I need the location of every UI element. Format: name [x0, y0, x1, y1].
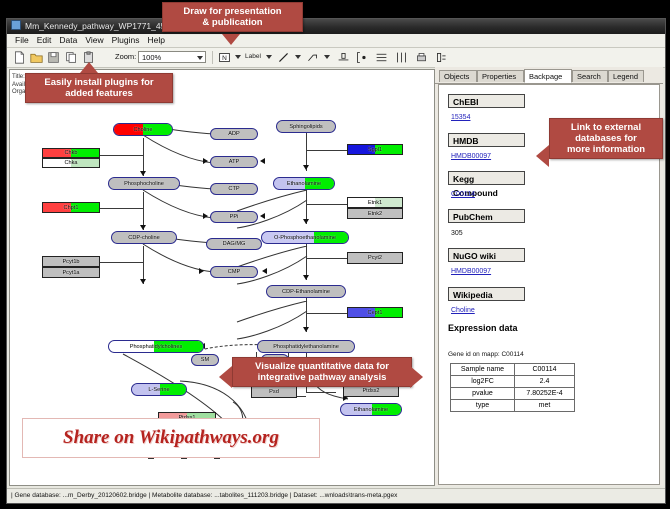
- node-label: CDP-choline: [128, 235, 159, 241]
- node-label: CMP: [228, 269, 240, 275]
- tab-properties[interactable]: Properties: [477, 70, 524, 82]
- share-banner-text: Share on Wikipathways.org: [63, 427, 279, 449]
- node-label: DAG/MG: [223, 241, 246, 247]
- zoom-label: Zoom:: [115, 52, 136, 61]
- connector-chpt1: [100, 208, 144, 209]
- arrow-left-ppi: [260, 213, 265, 219]
- expression-data-table: Sample name C00114 log2FC 2.4 pvalue 7.8…: [450, 363, 575, 412]
- node-label: Ethanolamine: [287, 181, 321, 187]
- db-header-chebi: ChEBI: [448, 94, 525, 108]
- db-header-nugo-wiki: NuGO wiki: [448, 248, 525, 262]
- callout-draw-line2: & publication: [202, 17, 262, 28]
- bracket-icon[interactable]: [355, 51, 368, 64]
- db-link-chebi[interactable]: 15354: [451, 114, 470, 121]
- table-cell-value: 2.4: [515, 376, 575, 388]
- stack-icon[interactable]: [375, 51, 388, 64]
- node-label: Pcyt2: [368, 255, 382, 261]
- node-sgpl1[interactable]: Sgpl1: [347, 144, 403, 155]
- node-sm-left[interactable]: SM: [191, 354, 219, 366]
- db-link-hmdb[interactable]: HMDB00097: [451, 153, 491, 160]
- callout-draw: Draw for presentation & publication: [162, 2, 303, 32]
- node-label: Cept1: [368, 310, 383, 316]
- line-icon[interactable]: [277, 51, 290, 64]
- menu-item-file[interactable]: File: [11, 34, 33, 47]
- db-link-wikipedia[interactable]: Choline: [451, 307, 475, 314]
- datanode-icon[interactable]: N: [218, 51, 231, 64]
- node-chpt1[interactable]: Chpt1: [42, 202, 100, 213]
- expression-data-header: Expression data: [448, 323, 518, 333]
- node-label: Sphingolipids: [289, 124, 322, 130]
- db-link-nugo-wiki[interactable]: HMDB00097: [451, 268, 491, 275]
- node-label: ATP: [229, 159, 239, 165]
- table-cell-value: met: [515, 400, 575, 412]
- callout-draw-line1: Draw for presentation: [183, 6, 281, 17]
- callout-plugins: Easily install plugins for added feature…: [25, 73, 173, 103]
- node-label: Ethanolamine: [354, 407, 388, 413]
- callout-plugins-line1: Easily install plugins for: [44, 77, 153, 88]
- node-label: CTP: [228, 186, 239, 192]
- share-banner: Share on Wikipathways.org: [22, 418, 320, 458]
- table-cell-value: C00114: [515, 364, 575, 376]
- node-chkb[interactable]: Chkb: [42, 148, 100, 158]
- align-icon[interactable]: [337, 51, 350, 64]
- status-bar-text: | Gene database: ...m_Derby_20120602.bri…: [11, 492, 397, 499]
- table-row: pvalue 7.80252E-4: [451, 388, 575, 400]
- node-l-serine-left[interactable]: L-Serine: [131, 383, 187, 396]
- table-row: type met: [451, 400, 575, 412]
- callout-plugins-line2: added features: [65, 88, 133, 99]
- db-header-kegg-compound: Kegg Compound: [448, 171, 525, 185]
- db-header-wikipedia: Wikipedia: [448, 287, 525, 301]
- connector-pcyt2: [306, 258, 348, 259]
- legend-icon[interactable]: [435, 51, 448, 64]
- node-sphingolipids[interactable]: Sphingolipids: [276, 120, 336, 133]
- connector-etnk: [306, 204, 348, 205]
- print-icon[interactable]: [415, 51, 428, 64]
- table-cell-key: Sample name: [451, 364, 515, 376]
- node-dagmg[interactable]: DAG/MG: [206, 238, 262, 250]
- db-header-pubchem: PubChem: [448, 209, 525, 223]
- node-ctp[interactable]: CTP: [210, 183, 258, 195]
- datanode-chevron-down-icon[interactable]: [235, 55, 241, 59]
- interaction-chevron-down-icon[interactable]: [324, 55, 330, 59]
- node-cdp-ethanolamine[interactable]: CDP-Ethanolamine: [266, 285, 346, 298]
- table-cell-key: log2FC: [451, 376, 515, 388]
- node-label: Sgpl1: [368, 147, 382, 153]
- arrow-left-atp: [260, 158, 265, 164]
- menu-item-view[interactable]: View: [81, 34, 107, 47]
- arrow-right-ppi: [203, 213, 208, 219]
- node-phosphatidylcholines[interactable]: Phosphatidylcholines: [108, 340, 204, 353]
- callout-links-pointer: [536, 145, 549, 167]
- callout-links-line3: more information: [567, 144, 645, 155]
- open-folder-icon[interactable]: [30, 51, 43, 64]
- arrow-right-cmp: [199, 268, 204, 274]
- tab-backpage[interactable]: Backpage: [524, 69, 572, 83]
- svg-text:N: N: [222, 55, 227, 62]
- table-cell-key: pvalue: [451, 388, 515, 400]
- title-bar: Mm_Kennedy_pathway_WP1771_45176.gpml: [7, 19, 665, 34]
- pathway-canvas[interactable]: Title: Availa Organi: [9, 69, 435, 486]
- node-chka[interactable]: Chka: [42, 158, 100, 168]
- node-label: Psd: [269, 389, 279, 395]
- node-label: PPi: [230, 214, 239, 220]
- node-phosphatidylethanolamine[interactable]: Phosphatidylethanolamine: [257, 340, 355, 353]
- node-label: ADP: [228, 131, 240, 137]
- node-label: Chpt1: [64, 205, 79, 211]
- callout-draw-pointer: [222, 34, 240, 45]
- side-panel-tabs: Objects Properties Backpage Search Legen…: [435, 69, 663, 84]
- node-ethanolamine-top[interactable]: Ethanolamine: [273, 177, 335, 190]
- db-header-hmdb: HMDB: [448, 133, 525, 147]
- menu-item-plugins[interactable]: Plugins: [108, 34, 144, 47]
- callout-links-line1: Link to external: [571, 122, 641, 133]
- menu-bar: FileEditDataViewPluginsHelp: [7, 34, 665, 48]
- node-label: CDP-Ethanolamine: [282, 289, 330, 295]
- db-link-kegg-compound[interactable]: C00114: [451, 191, 475, 198]
- menu-item-data[interactable]: Data: [55, 34, 81, 47]
- node-label: Pcyt1a: [62, 270, 79, 276]
- connector-pcyt1: [100, 262, 144, 263]
- callout-visualize-line2: integrative pathway analysis: [258, 372, 387, 383]
- callout-links-line2: databases for: [575, 133, 637, 144]
- toolbar-separator: [212, 51, 213, 64]
- node-pcyt1b[interactable]: Pcyt1b: [42, 256, 100, 267]
- new-file-icon[interactable]: [13, 51, 26, 64]
- arrow-down-ethanolamine: [303, 165, 309, 170]
- node-label: Choline: [134, 127, 153, 133]
- node-label: Etnk1: [368, 200, 382, 206]
- callout-visualize-pointer-right: [410, 366, 423, 388]
- node-label: Phosphatidylethanolamine: [273, 344, 339, 350]
- tab-objects[interactable]: Objects: [439, 70, 477, 82]
- node-label: O-Phosphoethanolamine: [274, 235, 336, 241]
- node-phosphocholine[interactable]: Phosphocholine: [108, 177, 180, 190]
- node-ppi[interactable]: PPi: [210, 211, 258, 223]
- db-value-pubchem: 305: [451, 230, 463, 237]
- status-bar: | Gene database: ...m_Derby_20120602.bri…: [7, 488, 665, 503]
- label-tool-label[interactable]: Label: [245, 53, 261, 60]
- tab-legend[interactable]: Legend: [608, 70, 644, 82]
- node-psd[interactable]: Psd: [251, 386, 297, 398]
- tab-search[interactable]: Search: [572, 70, 608, 82]
- toolbar: Zoom: 100% N Label: [7, 48, 665, 68]
- node-etnk2[interactable]: Etnk2: [347, 208, 403, 219]
- node-atp[interactable]: ATP: [210, 156, 258, 168]
- node-label: Etnk2: [368, 211, 382, 217]
- node-ethanolamine-bottom[interactable]: Ethanolamine: [340, 403, 402, 416]
- chevron-down-icon: [197, 56, 203, 60]
- table-cell-key: type: [451, 400, 515, 412]
- callout-visualize: Visualize quantitative data for integrat…: [232, 357, 412, 387]
- app-icon: [11, 20, 21, 30]
- connector-cept1: [306, 313, 348, 314]
- callout-links: Link to external databases for more info…: [549, 118, 663, 159]
- node-label: Pcyt1b: [62, 259, 79, 265]
- node-cdp-choline[interactable]: CDP-choline: [111, 231, 177, 244]
- node-label: Chka: [64, 160, 77, 166]
- node-label: Chkb: [64, 150, 77, 156]
- node-etnk1[interactable]: Etnk1: [347, 197, 403, 208]
- connector-psd-h: [306, 392, 336, 393]
- table-row: log2FC 2.4: [451, 376, 575, 388]
- callout-visualize-line1: Visualize quantitative data for: [255, 361, 389, 372]
- node-label: Phosphocholine: [124, 181, 164, 187]
- node-adp[interactable]: ADP: [210, 128, 258, 140]
- node-label: SM: [201, 357, 209, 363]
- node-o-phosphoethanolamine[interactable]: O-Phosphoethanolamine: [261, 231, 349, 244]
- distribute-icon[interactable]: [395, 51, 408, 64]
- zoom-value: 100%: [142, 53, 161, 62]
- line-chevron-down-icon[interactable]: [295, 55, 301, 59]
- save-icon[interactable]: [47, 51, 60, 64]
- node-cmp[interactable]: CMP: [210, 266, 258, 278]
- arrow-right-atp: [203, 158, 208, 164]
- screenshot-root: Mm_Kennedy_pathway_WP1771_45176.gpml Fil…: [0, 0, 670, 509]
- callout-plugins-pointer: [80, 62, 98, 73]
- zoom-combobox[interactable]: 100%: [138, 51, 206, 63]
- node-label: Phosphatidylcholines: [130, 344, 183, 350]
- menu-item-edit[interactable]: Edit: [33, 34, 56, 47]
- interaction-icon[interactable]: [306, 51, 319, 64]
- arrow-left-cmp: [262, 268, 267, 274]
- node-pcyt1a[interactable]: Pcyt1a: [42, 267, 100, 278]
- callout-visualize-pointer-left: [219, 366, 232, 388]
- menu-item-help[interactable]: Help: [144, 34, 169, 47]
- table-row: Sample name C00114: [451, 364, 575, 376]
- node-cept1[interactable]: Cept1: [347, 307, 403, 318]
- table-cell-value: 7.80252E-4: [515, 388, 575, 400]
- node-label: Ptdss2: [362, 388, 379, 394]
- connector-sgpl1: [306, 150, 348, 151]
- node-label: L-Serine: [148, 387, 169, 393]
- gene-id-line: Gene id on mapp: C00114: [448, 351, 524, 358]
- copy-icon[interactable]: [65, 51, 78, 64]
- connector-chk-genes: [100, 155, 144, 156]
- label-chevron-down-icon[interactable]: [266, 55, 272, 59]
- node-pcyt2[interactable]: Pcyt2: [347, 252, 403, 264]
- node-choline-top[interactable]: Choline: [113, 123, 173, 136]
